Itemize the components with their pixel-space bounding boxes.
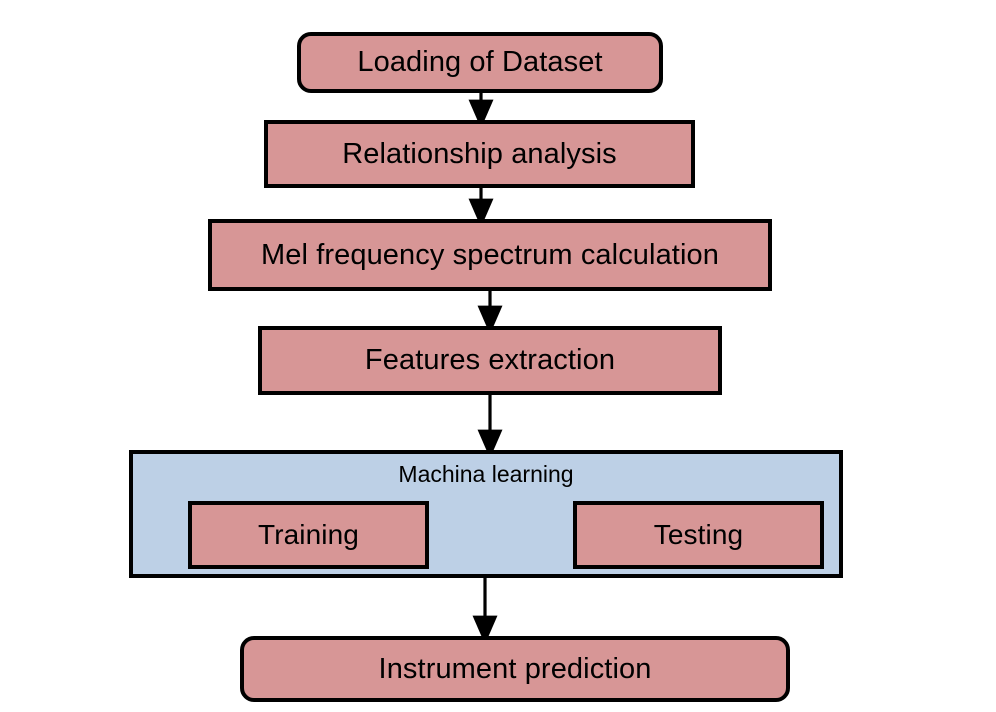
node-relationship-analysis[interactable]: Relationship analysis xyxy=(264,120,695,188)
node-mel-frequency-spectrum-calculation[interactable]: Mel frequency spectrum calculation xyxy=(208,219,772,291)
group-machine-learning-label: Machina learning xyxy=(133,462,839,487)
node-loading-of-dataset[interactable]: Loading of Dataset xyxy=(297,32,663,93)
node-loading-of-dataset-label: Loading of Dataset xyxy=(357,47,602,77)
node-testing-label: Testing xyxy=(654,520,743,549)
flowchart-canvas: Loading of Dataset Relationship analysis… xyxy=(0,0,996,712)
node-training-label: Training xyxy=(258,520,359,549)
node-training[interactable]: Training xyxy=(188,501,429,569)
node-instrument-prediction[interactable]: Instrument prediction xyxy=(240,636,790,702)
node-testing[interactable]: Testing xyxy=(573,501,824,569)
node-instrument-prediction-label: Instrument prediction xyxy=(379,654,652,684)
group-machine-learning[interactable]: Machina learning Training Testing xyxy=(129,450,843,578)
node-features-extraction-label: Features extraction xyxy=(365,345,615,375)
node-mel-frequency-spectrum-calculation-label: Mel frequency spectrum calculation xyxy=(261,240,719,270)
node-features-extraction[interactable]: Features extraction xyxy=(258,326,722,395)
node-relationship-analysis-label: Relationship analysis xyxy=(342,139,617,169)
